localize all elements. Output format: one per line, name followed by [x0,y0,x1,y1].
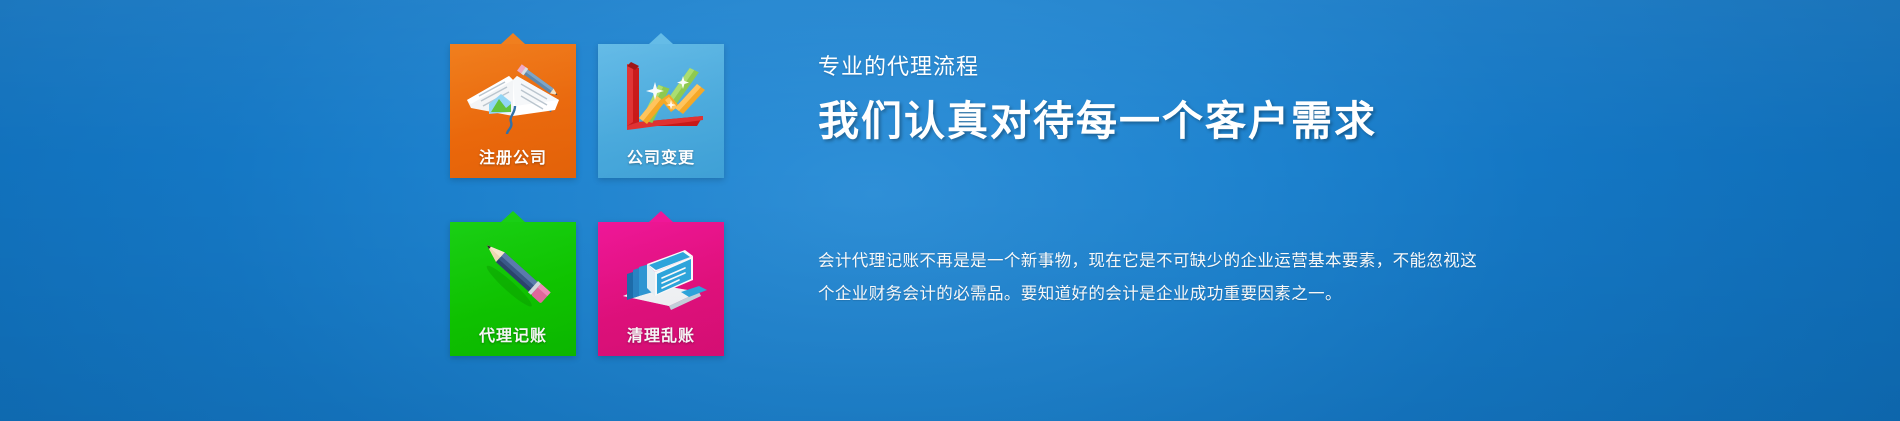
promo-banner: 注册公司 [0,0,1900,421]
tile-label: 公司变更 [598,144,724,168]
banner-stage: 注册公司 [0,0,1900,421]
service-tile-clean-up-accounts[interactable]: 清理乱账 [598,222,724,356]
tile-label: 清理乱账 [598,322,724,346]
tile-label: 注册公司 [450,144,576,168]
tile-notch-icon [649,211,673,222]
banner-subtitle: 专业的代理流程 [818,52,1718,82]
service-tile-register-company[interactable]: 注册公司 [450,44,576,178]
tile-notch-icon [501,33,525,44]
tile-notch-icon [649,33,673,44]
tile-notch-icon [501,211,525,222]
chart-axis-growth-icon [598,56,724,140]
service-tile-grid: 注册公司 [450,44,718,356]
service-tile-agency-bookkeeping[interactable]: 代理记账 [450,222,576,356]
banner-copy: 专业的代理流程 我们认真对待每一个客户需求 [818,52,1718,146]
pencil-icon [450,234,576,318]
banner-paragraph: 会计代理记账不再是是一个新事物，现在它是不可缺少的企业运营基本要素，不能忽视这个… [818,245,1478,311]
open-book-with-pencil-icon [450,56,576,140]
document-stack-icon [598,234,724,318]
banner-headline: 我们认真对待每一个客户需求 [818,96,1718,146]
service-tile-company-change[interactable]: 公司变更 [598,44,724,178]
tile-label: 代理记账 [450,322,576,346]
